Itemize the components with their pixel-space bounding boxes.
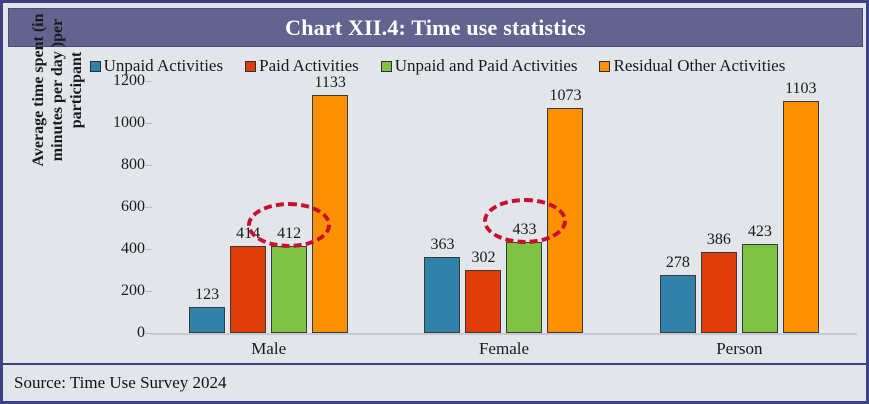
bar-value-label: 278 bbox=[666, 254, 690, 272]
x-axis-category-label: Person bbox=[716, 339, 762, 359]
chart-figure: Chart XII.4: Time use statistics Unpaid … bbox=[0, 0, 869, 404]
bar-value-label: 414 bbox=[236, 225, 260, 243]
page-title: Chart XII.4: Time use statistics bbox=[285, 15, 586, 41]
x-axis-category-label: Female bbox=[479, 339, 529, 359]
legend-label: Unpaid and Paid Activities bbox=[395, 56, 578, 76]
source-footer: Source: Time Use Survey 2024 bbox=[3, 363, 866, 401]
y-axis-tick-label: 400 bbox=[85, 240, 145, 258]
bar[interactable] bbox=[783, 101, 819, 333]
y-axis-tick-label: 1000 bbox=[85, 114, 145, 132]
y-axis-tick-mark bbox=[145, 207, 152, 208]
x-axis-baseline bbox=[151, 333, 857, 335]
legend-swatch-icon bbox=[381, 61, 392, 72]
bar[interactable] bbox=[547, 108, 583, 333]
bar[interactable] bbox=[424, 257, 460, 333]
bar[interactable] bbox=[230, 246, 266, 333]
bar-group-inner: 2783864231103 bbox=[622, 81, 857, 333]
bar-value-label: 1073 bbox=[549, 87, 581, 105]
bar[interactable] bbox=[506, 242, 542, 333]
legend-label: Paid Activities bbox=[259, 56, 359, 76]
bar-value-label: 412 bbox=[277, 225, 301, 243]
bar-value-label: 302 bbox=[471, 249, 495, 267]
y-axis-tick-label: 1200 bbox=[85, 72, 145, 90]
bar[interactable] bbox=[701, 252, 737, 333]
bars-area: 1234144121133Male3633024331073Female2783… bbox=[151, 81, 857, 333]
bar[interactable] bbox=[271, 246, 307, 333]
y-axis-tick-mark bbox=[145, 249, 152, 250]
y-axis-ticks: 020040060080010001200 bbox=[83, 81, 145, 333]
bar-value-label: 1133 bbox=[314, 74, 345, 92]
legend-item[interactable]: Paid Activities bbox=[245, 56, 359, 76]
bar-group: 2783864231103 bbox=[622, 81, 857, 333]
y-axis-label: Average time spent (in minutes per day )… bbox=[29, 0, 86, 185]
bar-value-label: 123 bbox=[195, 286, 219, 304]
y-axis-tick-mark bbox=[145, 291, 152, 292]
legend-swatch-icon bbox=[599, 61, 610, 72]
bar-group: 1234144121133 bbox=[151, 81, 386, 333]
bar-value-label: 386 bbox=[707, 231, 731, 249]
y-axis-tick-label: 200 bbox=[85, 282, 145, 300]
y-axis-tick-label: 800 bbox=[85, 156, 145, 174]
y-axis-tick-mark bbox=[145, 81, 152, 82]
y-axis-tick-mark bbox=[145, 333, 152, 334]
y-axis-tick-label: 600 bbox=[85, 198, 145, 216]
bar[interactable] bbox=[742, 244, 778, 333]
legend-item[interactable]: Residual Other Activities bbox=[599, 56, 785, 76]
legend-swatch-icon bbox=[245, 61, 256, 72]
x-axis-category-label: Male bbox=[251, 339, 286, 359]
bar[interactable] bbox=[660, 275, 696, 333]
chart-title-band: Chart XII.4: Time use statistics bbox=[8, 8, 863, 47]
bar-value-label: 363 bbox=[430, 236, 454, 254]
bar-value-label: 1103 bbox=[785, 80, 816, 98]
y-axis-tick-mark bbox=[145, 123, 152, 124]
bar-group-inner: 3633024331073 bbox=[386, 81, 621, 333]
bar-group: 3633024331073 bbox=[386, 81, 621, 333]
legend-item[interactable]: Unpaid and Paid Activities bbox=[381, 56, 578, 76]
legend-swatch-icon bbox=[90, 61, 101, 72]
y-axis-tick-mark bbox=[145, 165, 152, 166]
bar[interactable] bbox=[189, 307, 225, 333]
bar-group-inner: 1234144121133 bbox=[151, 81, 386, 333]
plot-area: Average time spent (in minutes per day )… bbox=[3, 81, 869, 363]
bar-value-label: 423 bbox=[748, 223, 772, 241]
bar[interactable] bbox=[465, 270, 501, 333]
bar-value-label: 433 bbox=[512, 221, 536, 239]
bar[interactable] bbox=[312, 95, 348, 333]
source-text: Source: Time Use Survey 2024 bbox=[3, 373, 227, 393]
y-axis-tick-label: 0 bbox=[85, 324, 145, 342]
legend-label: Residual Other Activities bbox=[613, 56, 785, 76]
